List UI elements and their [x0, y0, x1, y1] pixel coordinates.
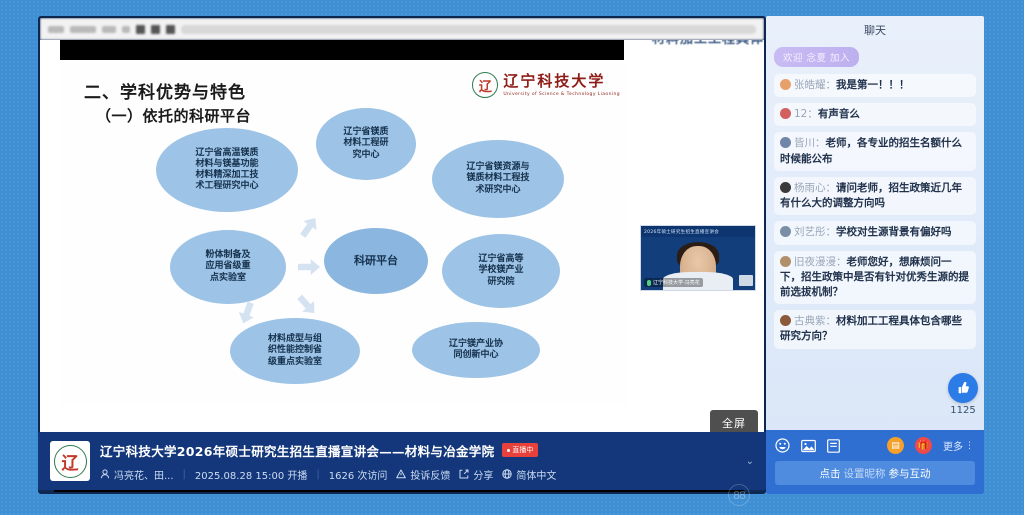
speakers-text: 冯亮花、田... — [114, 467, 174, 482]
chrome-ghost-item — [70, 26, 96, 33]
emoji-icon[interactable] — [775, 438, 790, 453]
user-icon — [100, 469, 110, 479]
share-label: 分享 — [473, 467, 493, 482]
channel-logo: 辽 — [50, 441, 90, 481]
note-icon[interactable] — [827, 439, 840, 453]
stream-title: 辽宁科技大学2026年硕士研究生招生直播宣讲会——材料与冶金学院 — [100, 441, 494, 460]
avatar — [780, 226, 791, 237]
live-dot-icon — [507, 449, 510, 452]
avatar — [780, 315, 791, 326]
meta-divider: | — [316, 469, 319, 480]
avatar — [780, 108, 791, 119]
presenter-video-thumbnail[interactable]: 2026年硕士研究生招生直播宣讲会 辽宁科技大学-冯亮花 — [640, 225, 756, 291]
live-player-shell: 材料加工工程具体 二、学科优势与特色 （一）依托的科研平台 辽 辽宁科技大学 U… — [38, 16, 766, 494]
chat-input-nickname-link[interactable]: 设置昵称 — [844, 466, 886, 481]
chrome-app-icon — [151, 25, 160, 34]
slide-node-ellipse: 辽宁镁产业协 同创新中心 — [412, 322, 540, 378]
slide-node-ellipse: 辽宁省高温镁质 材料与镁基功能 材料精深加工技 术工程研究中心 — [156, 128, 298, 212]
stream-info-column: 辽宁科技大学2026年硕士研究生招生直播宣讲会——材料与冶金学院 直播中 冯亮花… — [100, 441, 556, 482]
avatar — [780, 256, 791, 267]
university-name-en: University of Science & Technology Liaon… — [503, 92, 620, 97]
slide-node-ellipse: 辽宁省镁资源与 镁质材料工程技 术研究中心 — [432, 140, 564, 218]
speakers-item: 冯亮花、田... — [100, 467, 174, 482]
flow-arrow-icon — [295, 213, 322, 241]
chat-message-user: 古典紫： — [794, 315, 836, 327]
globe-icon — [502, 469, 512, 479]
warning-triangle-icon — [396, 469, 406, 479]
chat-message: 皆川：老师，各专业的招生名额什么时候能公布 — [774, 132, 976, 170]
stream-title-row: 辽宁科技大学2026年硕士研究生招生直播宣讲会——材料与冶金学院 直播中 — [100, 441, 556, 460]
more-label-text: 更多 — [943, 438, 963, 453]
chat-message-user: 杨雨心： — [794, 182, 836, 194]
microphone-icon — [647, 280, 651, 286]
chat-message: 刘艺彤：学校对生源背景有偏好吗 — [774, 221, 976, 244]
language-label: 简体中文 — [516, 467, 556, 482]
chat-footer-icons: ▤ 🎁 更多 ⋮ — [775, 437, 975, 454]
flow-arrow-icon — [293, 291, 321, 319]
welcome-join-badge: 欢迎 念夏 加入 — [774, 47, 859, 67]
chat-message-user: 刘艺彤： — [794, 226, 836, 238]
chat-message-text: 学校对生源背景有偏好吗 — [836, 226, 952, 238]
chrome-ghost-item — [122, 26, 130, 33]
chat-header-title: 聊天 — [766, 16, 984, 44]
avatar — [780, 79, 791, 90]
chat-input-suffix: 参与互动 — [889, 466, 931, 481]
slide-subtitle: （一）依托的科研平台 — [96, 105, 251, 126]
university-name-cn: 辽宁科技大学 — [503, 74, 620, 89]
complaint-feedback-button[interactable]: 投诉反馈 — [396, 467, 450, 482]
chrome-ghost-item — [48, 26, 64, 33]
like-button[interactable]: 1125 — [948, 373, 978, 416]
slide-title: 二、学科优势与特色 — [84, 78, 246, 103]
meta-divider: | — [183, 469, 186, 480]
chat-message: 古典紫：材料加工工程具体包含哪些研究方向？ — [774, 310, 976, 348]
more-button[interactable]: 更多 ⋮ — [943, 438, 975, 453]
chat-message-user: 旧夜漫漫： — [794, 256, 847, 268]
pip-secondary-thumbnail — [739, 275, 753, 286]
video-stage[interactable]: 材料加工工程具体 二、学科优势与特色 （一）依托的科研平台 辽 辽宁科技大学 U… — [40, 40, 764, 458]
avatar — [780, 137, 791, 148]
chat-panel: 聊天 欢迎 念夏 加入 张皓耀：我是第一！！！ 12：有声音么 皆川：老师，各专… — [766, 16, 984, 494]
chat-input-prefix: 点击 — [820, 466, 841, 481]
chat-message-text: 我是第一！！！ — [836, 79, 910, 91]
presenter-name-label: 辽宁科技大学-冯亮花 — [644, 278, 703, 287]
avatar — [780, 182, 791, 193]
pip-banner-text: 2026年硕士研究生招生直播宣讲会 — [641, 226, 755, 237]
live-status-badge: 直播中 — [502, 443, 538, 457]
presenter-name-text: 辽宁科技大学-冯亮花 — [653, 279, 700, 286]
slide-node-ellipse: 辽宁省镁质 材料工程研 究中心 — [316, 108, 416, 180]
stream-meta-row: 冯亮花、田... | 2025.08.28 15:00 开播 | 1626 次访… — [100, 467, 556, 482]
letterbox-bar — [60, 40, 624, 60]
visit-count-item: 1626 次访问 — [329, 467, 388, 482]
university-seal-icon: 辽 — [472, 72, 498, 98]
chat-message-list[interactable]: 欢迎 念夏 加入 张皓耀：我是第一！！！ 12：有声音么 皆川：老师，各专业的招… — [766, 44, 984, 430]
slide-node-ellipse: 辽宁省高等 学校镁产业 研究院 — [442, 234, 560, 308]
live-badge-label: 直播中 — [512, 445, 533, 455]
flow-arrow-icon — [235, 300, 259, 327]
stage-watermark-text: 材料加工工程具体 — [652, 40, 764, 47]
chevron-down-icon[interactable]: ⌄ — [746, 456, 754, 467]
chrome-window-icon — [136, 25, 145, 34]
chat-message: 杨雨心：请问老师，招生政策近几年有什么大的调整方向吗 — [774, 177, 976, 215]
image-icon[interactable] — [801, 439, 816, 453]
chat-message: 12：有声音么 — [774, 103, 976, 126]
chat-message-text: 有声音么 — [818, 108, 860, 120]
channel-logo-seal-icon: 辽 — [54, 445, 87, 478]
language-selector[interactable]: 简体中文 — [502, 467, 556, 482]
chat-message: 张皓耀：我是第一！！！ — [774, 74, 976, 97]
chat-footer: ▤ 🎁 更多 ⋮ 点击 设置昵称 参与互动 — [766, 430, 984, 494]
browser-chrome-strip — [40, 18, 764, 40]
chrome-address-bar[interactable] — [181, 25, 756, 34]
slide-center-node: 科研平台 — [324, 228, 428, 294]
chat-message-user: 皆川： — [794, 137, 826, 149]
presentation-slide: 二、学科优势与特色 （一）依托的科研平台 辽 辽宁科技大学 University… — [60, 60, 628, 405]
chat-input-bar[interactable]: 点击 设置昵称 参与互动 — [775, 461, 975, 485]
chat-message: 旧夜漫漫：老师您好，想麻烦问一下，招生政策中是否有针对优秀生源的提前选拔机制？ — [774, 251, 976, 305]
slide-node-ellipse: 粉体制备及 应用省级重 点实验室 — [170, 230, 286, 304]
start-time-item: 2025.08.28 15:00 开播 — [195, 467, 307, 482]
share-icon — [459, 469, 469, 479]
corner-watermark-icon: 88 — [728, 484, 750, 506]
chat-message-user: 12： — [794, 108, 818, 120]
gift-icon[interactable]: 🎁 — [915, 437, 932, 454]
chrome-bookmark-icon — [166, 25, 175, 34]
flow-arrow-icon — [298, 258, 320, 276]
more-dots-icon: ⋮ — [965, 441, 975, 451]
thumbs-up-icon — [948, 373, 978, 403]
chat-message-user: 张皓耀： — [794, 79, 836, 91]
share-button[interactable]: 分享 — [459, 467, 493, 482]
card-icon[interactable]: ▤ — [887, 437, 904, 454]
like-count: 1125 — [950, 405, 975, 416]
university-logo: 辽 辽宁科技大学 University of Science & Technol… — [472, 72, 620, 98]
slide-node-ellipse: 材料成型与组 织性能控制省 级重点实验室 — [230, 318, 360, 384]
complaint-feedback-label: 投诉反馈 — [410, 467, 450, 482]
stream-info-bar: 辽 辽宁科技大学2026年硕士研究生招生直播宣讲会——材料与冶金学院 直播中 冯… — [38, 432, 766, 490]
chrome-ghost-item — [102, 26, 116, 33]
